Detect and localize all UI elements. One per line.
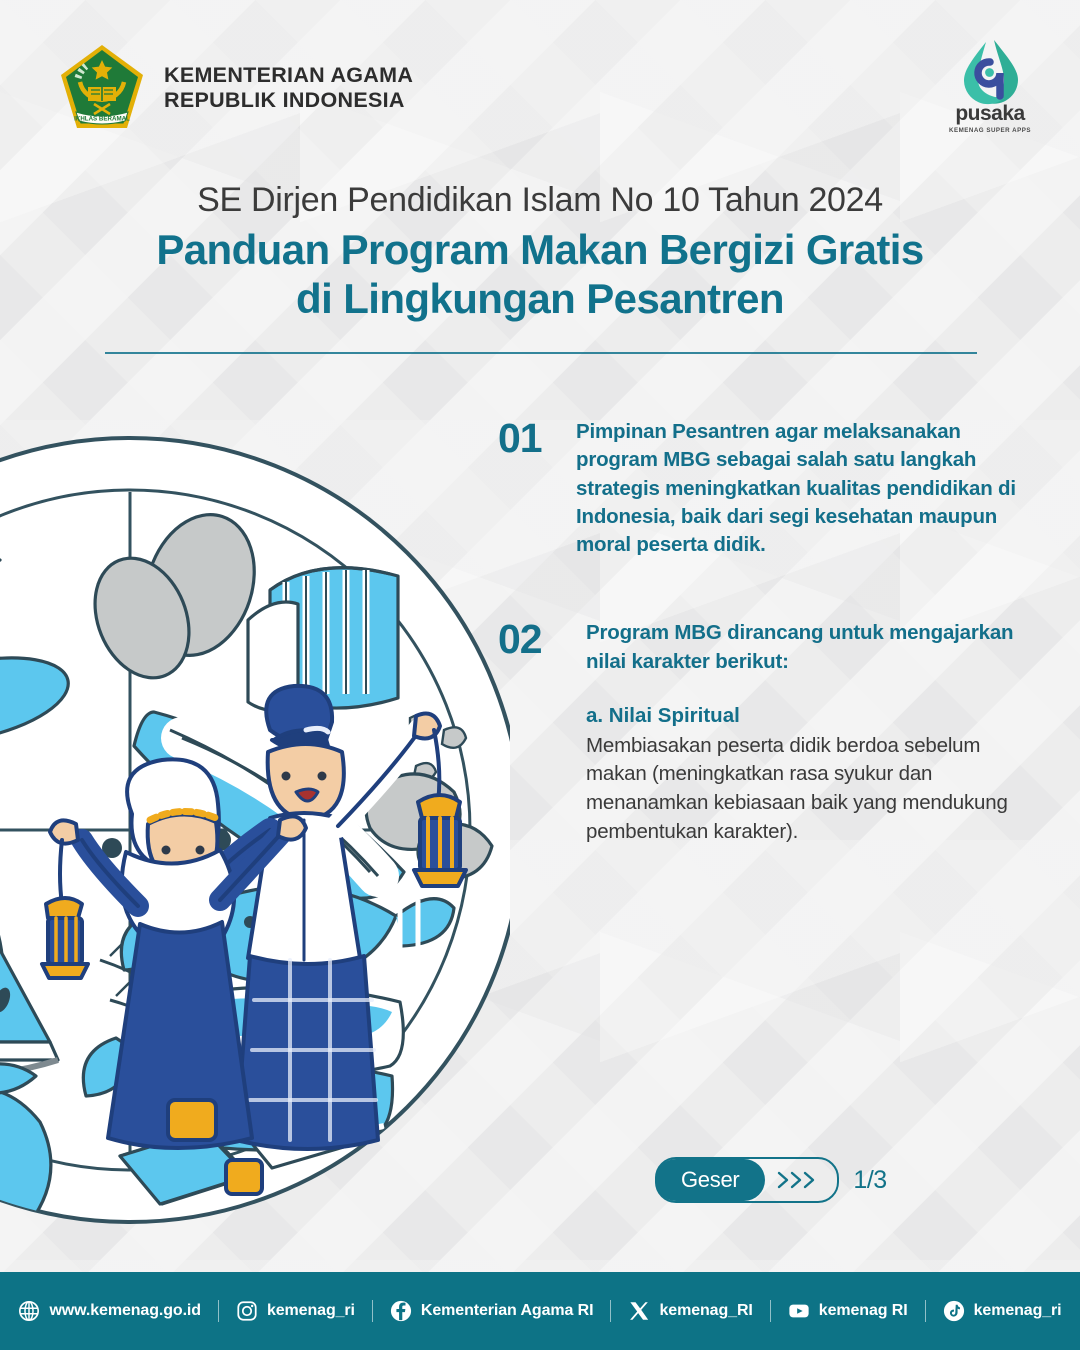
title-divider <box>105 352 977 354</box>
points-list: 01 Pimpinan Pesantren agar melaksanakan … <box>498 418 1038 846</box>
footer-item-website[interactable]: www.kemenag.go.id <box>18 1300 201 1322</box>
point-item-02: 02 Program MBG dirancang untuk mengajark… <box>498 619 1038 846</box>
footer-label-youtube: kemenag RI <box>819 1302 908 1320</box>
title-block: SE Dirjen Pendidikan Islam No 10 Tahun 2… <box>0 182 1080 324</box>
footer-item-x[interactable]: kemenag_RI <box>628 1300 752 1322</box>
infographic-canvas: IKHLAS BERAMAL KEMENTERIAN AGAMA REPUBLI… <box>0 0 1080 1350</box>
footer-separator <box>218 1300 219 1322</box>
ministry-name-line1: KEMENTERIAN AGAMA <box>164 63 413 88</box>
svg-text:IKHLAS BERAMAL: IKHLAS BERAMAL <box>74 116 130 123</box>
pusaka-lockup: pusaka KEMENAG SUPER APPS <box>940 36 1040 134</box>
footer-item-facebook[interactable]: Kementerian Agama RI <box>390 1300 594 1322</box>
ministry-name-line2: REPUBLIK INDONESIA <box>164 88 413 113</box>
footer-item-tiktok[interactable]: kemenag_ri <box>943 1300 1062 1322</box>
point-item-01: 01 Pimpinan Pesantren agar melaksanakan … <box>498 418 1038 559</box>
point-number-02: 02 <box>498 619 586 660</box>
pusaka-droplet-logo-icon <box>940 36 1040 106</box>
footer-separator <box>372 1300 373 1322</box>
point-number-01: 01 <box>498 418 576 459</box>
footer-label-instagram: kemenag_ri <box>267 1302 355 1320</box>
footer-separator <box>925 1300 926 1322</box>
footer-label-tiktok: kemenag_ri <box>974 1302 1062 1320</box>
geser-pill[interactable]: Geser <box>655 1157 839 1203</box>
kemenag-pentagon-logo-icon: IKHLAS BERAMAL <box>58 42 146 134</box>
ministry-lockup: IKHLAS BERAMAL KEMENTERIAN AGAMA REPUBLI… <box>58 42 413 134</box>
title-headline-line1: Panduan Program Makan Bergizi Gratis <box>0 226 1080 275</box>
footer-label-x: kemenag_RI <box>659 1302 752 1320</box>
footer-item-instagram[interactable]: kemenag_ri <box>236 1300 355 1322</box>
pusaka-wordmark: pusaka <box>940 102 1040 126</box>
geser-label[interactable]: Geser <box>655 1159 765 1201</box>
footer-item-youtube[interactable]: kemenag RI <box>788 1300 908 1322</box>
pusaka-tagline: KEMENAG SUPER APPS <box>940 127 1040 134</box>
footer-separator <box>770 1300 771 1322</box>
footer-label-website: www.kemenag.go.id <box>49 1302 201 1320</box>
point-text-02: Program MBG dirancang untuk mengajarkan … <box>586 619 1038 676</box>
slide-counter: 1/3 <box>853 1166 886 1195</box>
x-twitter-icon <box>628 1300 650 1322</box>
point-text-01: Pimpinan Pesantren agar melaksanakan pro… <box>576 418 1038 559</box>
point-subitem-a: a. Nilai Spiritual Membiasakan peserta d… <box>586 702 1038 846</box>
globe-icon <box>18 1300 40 1322</box>
instagram-icon <box>236 1300 258 1322</box>
title-headline-line2: di Lingkungan Pesantren <box>0 275 1080 324</box>
triple-chevron-right-icon[interactable] <box>765 1170 837 1190</box>
header: IKHLAS BERAMAL KEMENTERIAN AGAMA REPUBLI… <box>0 0 1080 150</box>
youtube-icon <box>788 1300 810 1322</box>
tiktok-icon <box>943 1300 965 1322</box>
footer-label-facebook: Kementerian Agama RI <box>421 1302 594 1320</box>
footer-social-bar: www.kemenag.go.id kemenag_ri Kementer <box>0 1272 1080 1350</box>
subitem-title: a. Nilai Spiritual <box>586 702 1038 730</box>
title-kicker: SE Dirjen Pendidikan Islam No 10 Tahun 2… <box>0 182 1080 219</box>
facebook-icon <box>390 1300 412 1322</box>
subitem-text: Membiasakan peserta didik berdoa sebelum… <box>586 732 1038 847</box>
swipe-control[interactable]: Geser 1/3 <box>655 1157 887 1203</box>
footer-separator <box>610 1300 611 1322</box>
